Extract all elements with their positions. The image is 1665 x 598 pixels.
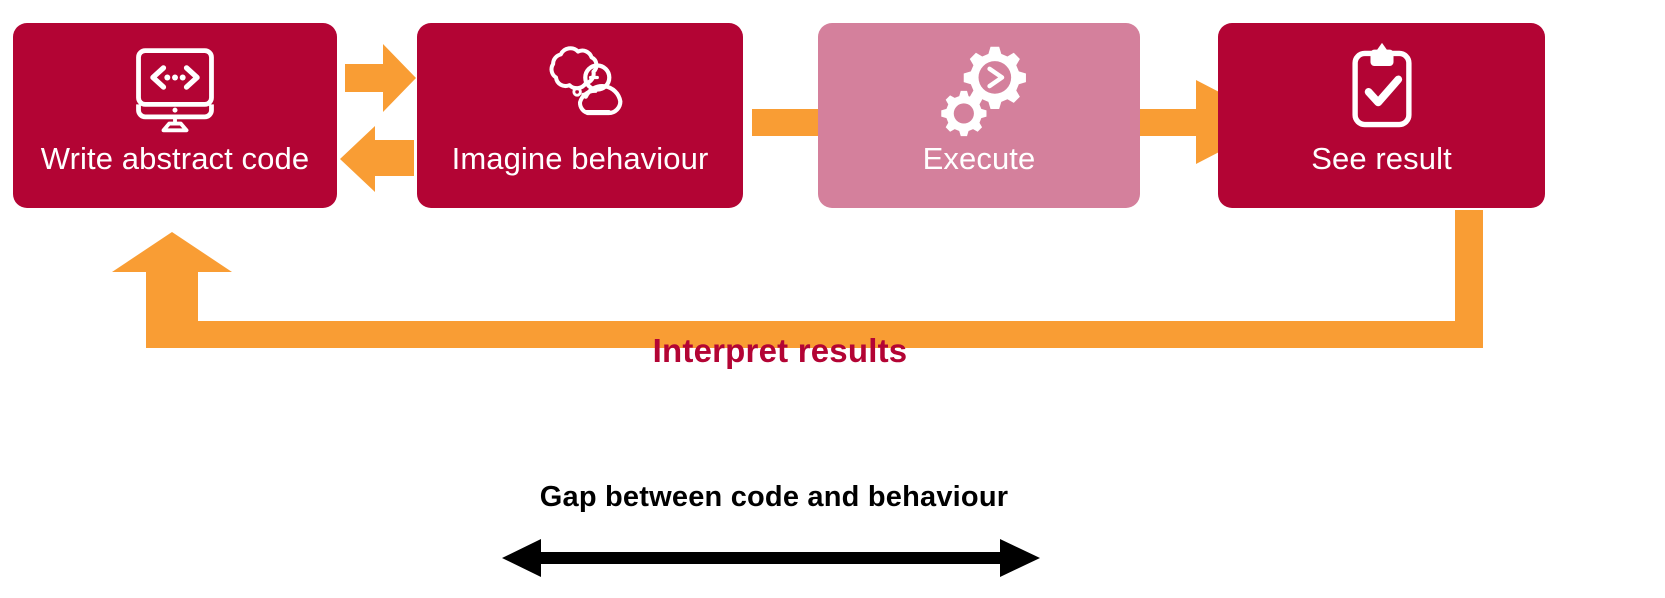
clipboard-check-icon xyxy=(1334,41,1430,137)
stage-label: Imagine behaviour xyxy=(452,143,709,174)
stage-execute[interactable]: Execute xyxy=(818,23,1140,208)
diagram-canvas: Write abstract code Imagine behaviour xyxy=(0,0,1665,598)
stage-write-abstract-code[interactable]: Write abstract code xyxy=(13,23,337,208)
arrow-left-icon xyxy=(340,126,414,192)
stage-label: Execute xyxy=(923,143,1036,174)
arrow-right-icon xyxy=(345,44,416,112)
stage-label: Write abstract code xyxy=(41,143,309,174)
stage-imagine-behaviour[interactable]: Imagine behaviour xyxy=(417,23,743,208)
gears-play-icon xyxy=(931,41,1027,137)
person-thinking-icon xyxy=(532,41,628,137)
monitor-code-icon xyxy=(127,41,223,137)
interpret-results-label: Interpret results xyxy=(0,332,1560,370)
double-headed-arrow-icon xyxy=(502,539,1040,577)
loop-arrow-up-icon xyxy=(112,210,1483,348)
stage-label: See result xyxy=(1311,143,1452,174)
stage-see-result[interactable]: See result xyxy=(1218,23,1545,208)
gap-label: Gap between code and behaviour xyxy=(0,481,1548,514)
